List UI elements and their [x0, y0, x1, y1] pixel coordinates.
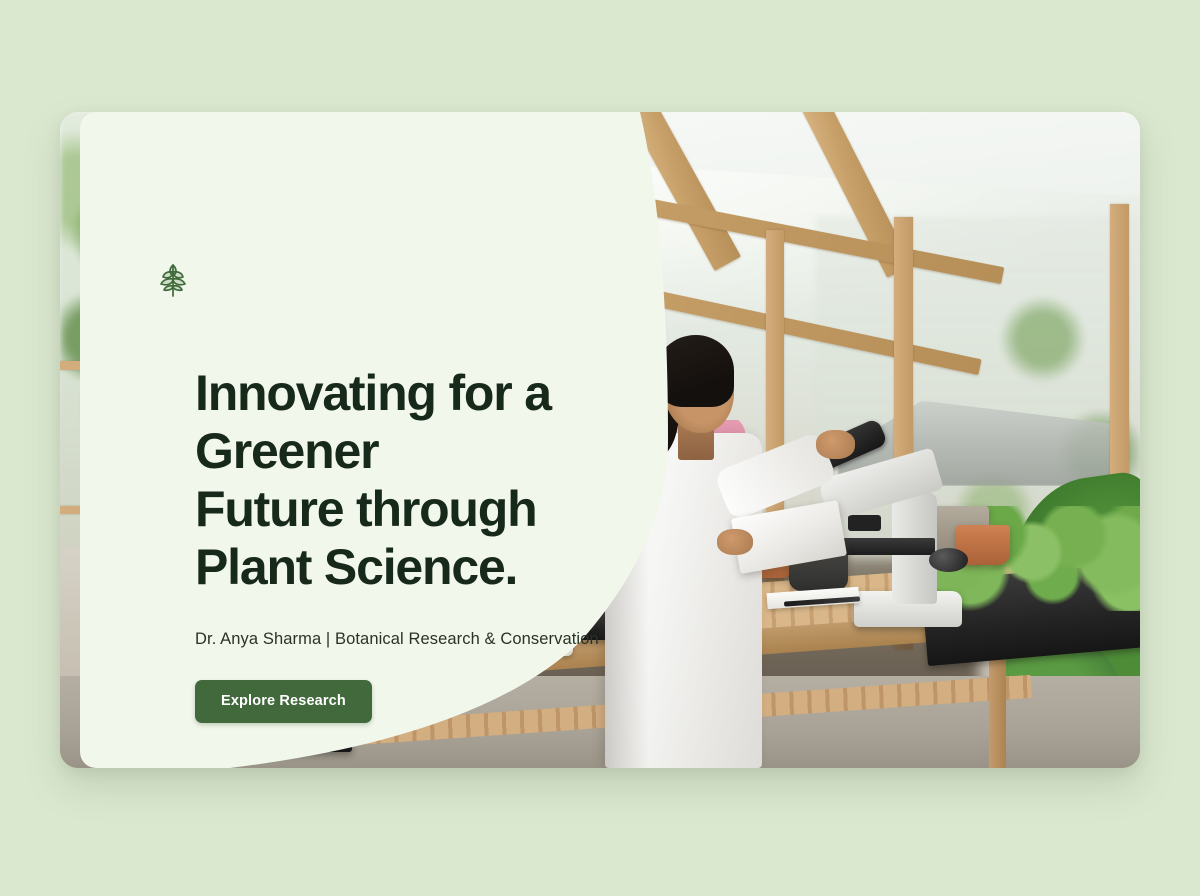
page-title: Innovating for a Greener Future through … [195, 364, 635, 596]
bench-leg [989, 650, 1006, 768]
scientist-hand-holding-eyepiece [816, 430, 855, 459]
leaf-plant-icon [156, 258, 190, 298]
microscope-stage [838, 538, 935, 555]
headline-line-4: Plant Science. [195, 539, 517, 595]
headline-line-2: Greener [195, 423, 378, 479]
microscope-objective-lens [848, 515, 880, 531]
scientist-hand-holding-tablet [717, 529, 754, 555]
scientist-hair [656, 335, 734, 407]
hero-card: Innovating for a Greener Future through … [60, 112, 1140, 768]
headline-line-1: Innovating for a [195, 365, 551, 421]
microscope-focus-knob [929, 548, 968, 572]
headline-line-3: Future through [195, 481, 536, 537]
author-subtitle: Dr. Anya Sharma | Botanical Research & C… [195, 628, 635, 650]
hero-content: Innovating for a Greener Future through … [195, 364, 635, 723]
explore-research-button[interactable]: Explore Research [195, 680, 372, 723]
